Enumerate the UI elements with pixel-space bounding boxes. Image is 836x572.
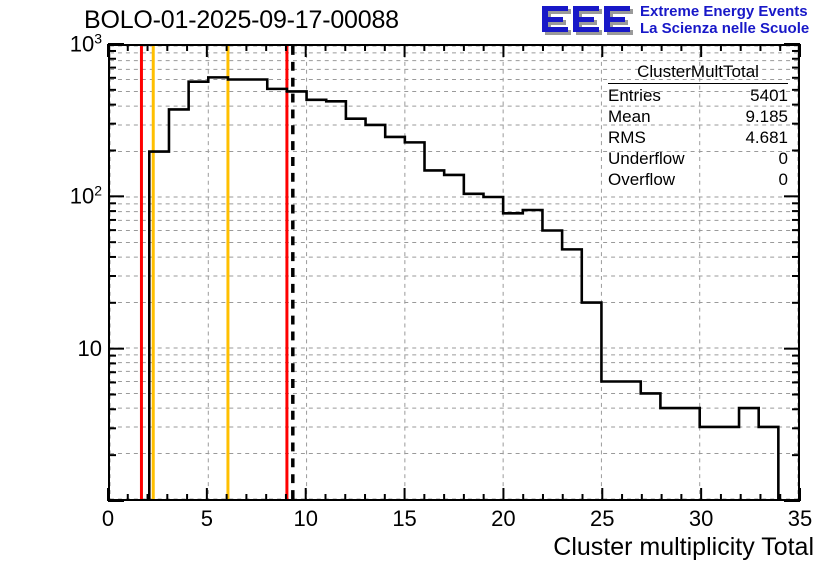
eee-logo-line1: Extreme Energy Events	[640, 3, 808, 20]
stats-value: 4.681	[745, 127, 788, 148]
y-tick-label: 102	[70, 183, 102, 210]
stats-label: Overflow	[608, 169, 675, 190]
y-tick-label: 103	[70, 30, 102, 57]
eee-logo: Extreme Energy Events La Scienza nelle S…	[540, 2, 832, 42]
stats-row-rms: RMS 4.681	[608, 127, 788, 148]
x-tick-label: 25	[590, 506, 614, 532]
stats-row-overflow: Overflow 0	[608, 169, 788, 190]
x-axis-title: Cluster multiplicity Total	[553, 533, 814, 562]
stats-label: Underflow	[608, 148, 685, 169]
stats-box: ClusterMultTotal Entries 5401 Mean 9.185…	[608, 62, 788, 190]
x-tick-label: 15	[392, 506, 416, 532]
stats-row-mean: Mean 9.185	[608, 106, 788, 127]
x-tick-label: 5	[201, 506, 213, 532]
x-tick-label: 10	[293, 506, 317, 532]
stats-value: 9.185	[745, 106, 788, 127]
x-tick-label: 30	[689, 506, 713, 532]
x-tick-label: 35	[788, 506, 812, 532]
eee-logo-text: Extreme Energy Events La Scienza nelle S…	[640, 3, 809, 37]
y-tick-label: 10	[78, 336, 102, 362]
x-tick-label: 20	[491, 506, 515, 532]
stats-title: ClusterMultTotal	[608, 62, 788, 84]
stats-label: RMS	[608, 127, 646, 148]
stats-row-underflow: Underflow 0	[608, 148, 788, 169]
stats-value: 0	[779, 148, 788, 169]
stats-label: Mean	[608, 106, 651, 127]
stats-value: 0	[779, 169, 788, 190]
page-title: BOLO-01-2025-09-17-00088	[84, 6, 399, 35]
stats-value: 5401	[750, 85, 788, 106]
eee-logo-line2: La Scienza nelle Scuole	[640, 20, 809, 37]
root-canvas: BOLO-01-2025-09-17-00088	[0, 0, 836, 572]
stats-row-entries: Entries 5401	[608, 85, 788, 106]
stats-label: Entries	[608, 85, 661, 106]
eee-logo-mark	[540, 2, 636, 40]
x-tick-label: 0	[102, 506, 114, 532]
